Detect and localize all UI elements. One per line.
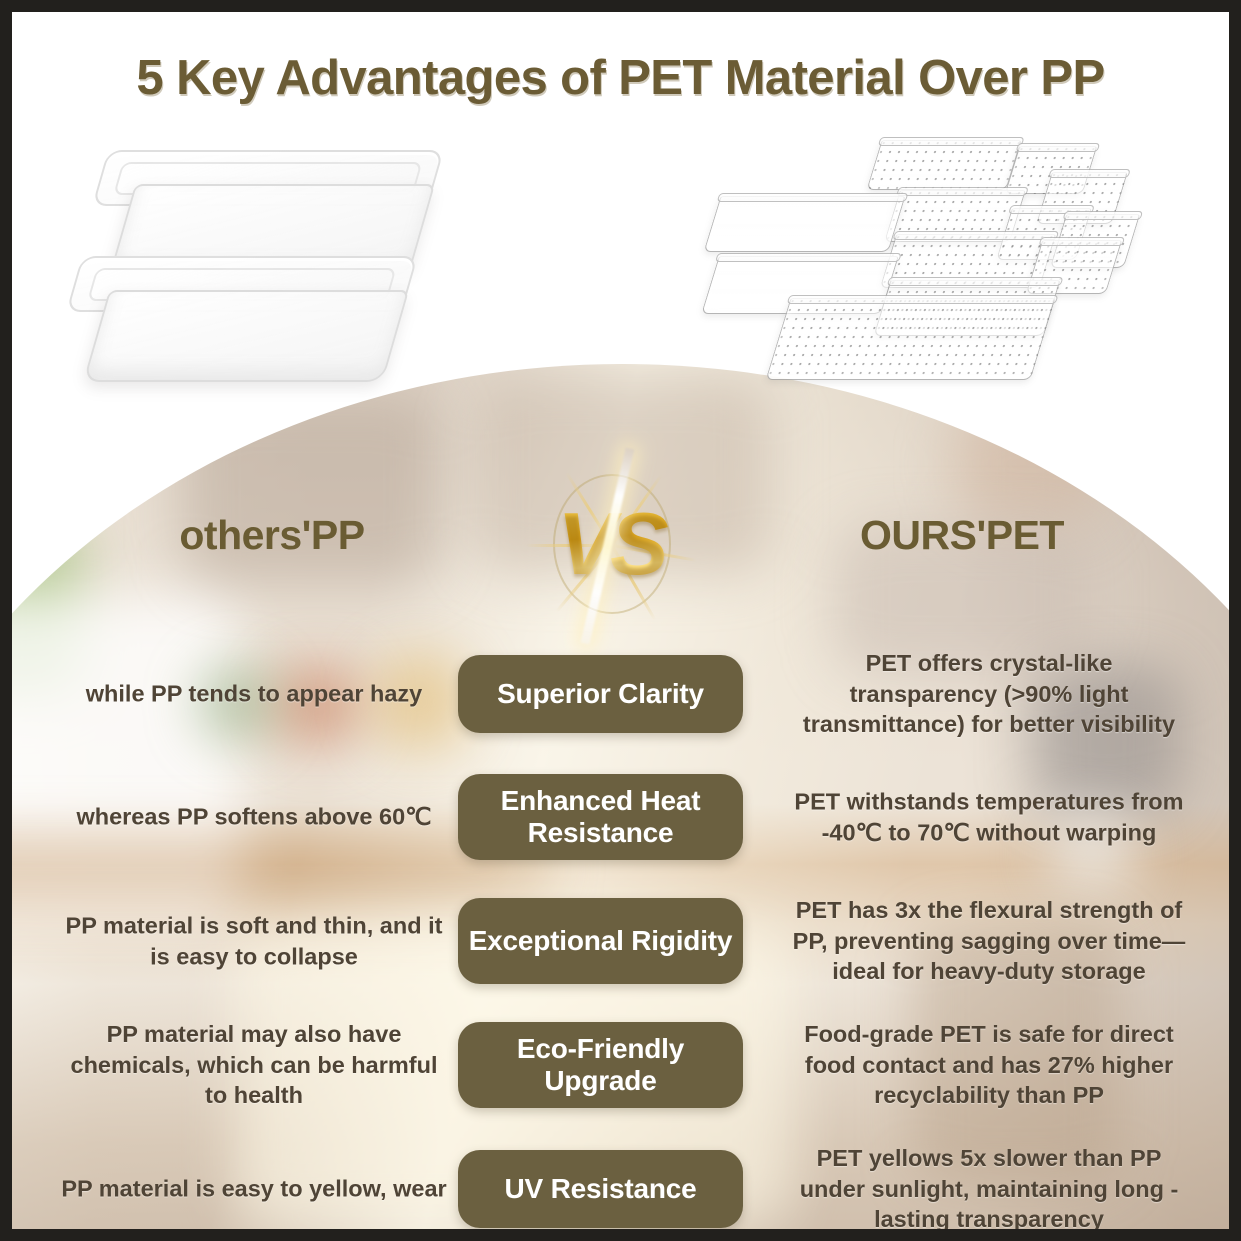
feature-pill-label: Enhanced Heat Resistance bbox=[458, 785, 743, 850]
column-header-right: OURS'PET bbox=[702, 512, 1222, 559]
feature-pill: Enhanced Heat Resistance bbox=[458, 774, 743, 860]
comparison-row: PP material is easy to yellow, wear UV R… bbox=[12, 1142, 1229, 1229]
pp-body-bottom bbox=[83, 290, 409, 382]
row-left-text: whereas PP softens above 60℃ bbox=[58, 802, 450, 833]
row-right-text: PET yellows 5x slower than PP under sunl… bbox=[789, 1143, 1189, 1229]
row-left-text: PP material is soft and thin, and it is … bbox=[58, 910, 450, 971]
feature-pill: Superior Clarity bbox=[458, 655, 743, 733]
row-right-text: PET withstands temperatures from -40℃ to… bbox=[789, 786, 1189, 847]
feature-pill-label: Superior Clarity bbox=[497, 678, 704, 710]
comparison-row: PP material may also have chemicals, whi… bbox=[12, 1018, 1229, 1112]
feature-pill: Exceptional Rigidity bbox=[458, 898, 743, 984]
feature-pill-label: Exceptional Rigidity bbox=[469, 925, 733, 957]
infographic-frame: 5 Key Advantages of PET Material Over PP bbox=[0, 0, 1241, 1241]
pet-product-image bbox=[682, 130, 1172, 430]
feature-pill-label: Eco-Friendly Upgrade bbox=[458, 1033, 743, 1098]
vs-badge: VS bbox=[517, 460, 707, 628]
row-left-text: PP material may also have chemicals, whi… bbox=[58, 1019, 450, 1111]
pet-bin-1 bbox=[866, 140, 1021, 190]
comparison-row: whereas PP softens above 60℃ Enhanced He… bbox=[12, 770, 1229, 864]
pet-bin-long-top bbox=[703, 196, 905, 252]
column-header-left: others'PP bbox=[12, 512, 532, 559]
comparison-row: PP material is soft and thin, and it is … bbox=[12, 894, 1229, 988]
pp-product-image bbox=[82, 132, 482, 432]
infographic-canvas: 5 Key Advantages of PET Material Over PP bbox=[12, 12, 1229, 1229]
feature-pill: UV Resistance bbox=[458, 1150, 743, 1228]
page-title: 5 Key Advantages of PET Material Over PP bbox=[12, 50, 1229, 106]
pet-bin-front-large bbox=[765, 298, 1055, 380]
row-right-text: Food-grade PET is safe for direct food c… bbox=[789, 1019, 1189, 1111]
row-right-text: PET has 3x the flexural strength of PP, … bbox=[789, 895, 1189, 987]
feature-pill: Eco-Friendly Upgrade bbox=[458, 1022, 743, 1108]
row-right-text: PET offers crystal-like transparency (>9… bbox=[789, 648, 1189, 740]
comparison-row: while PP tends to appear hazy Superior C… bbox=[12, 647, 1229, 741]
feature-pill-label: UV Resistance bbox=[505, 1173, 697, 1205]
row-left-text: PP material is easy to yellow, wear bbox=[58, 1174, 450, 1205]
row-left-text: while PP tends to appear hazy bbox=[58, 679, 450, 710]
